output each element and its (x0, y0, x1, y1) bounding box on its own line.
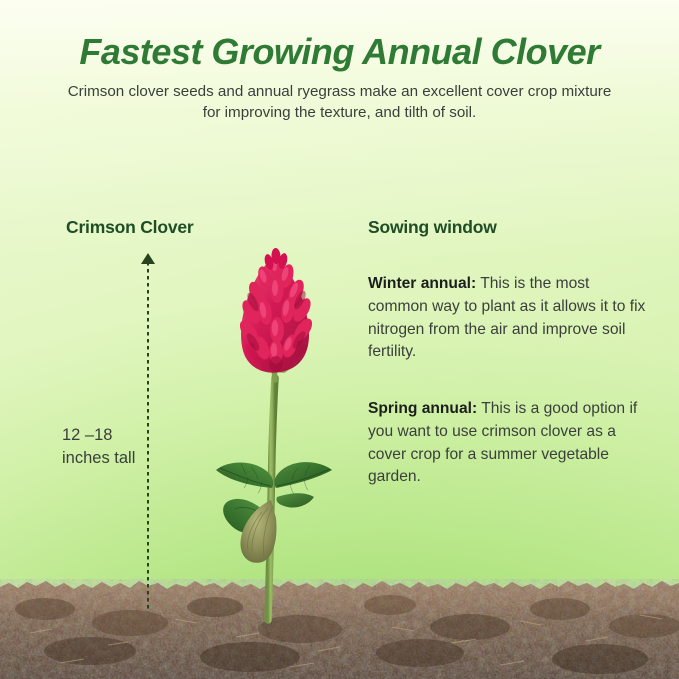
page-subtitle: Crimson clover seeds and annual ryegrass… (60, 81, 620, 124)
soil-ground (0, 571, 679, 679)
height-measurement-label: 12 –18 inches tall (62, 424, 152, 470)
right-column-heading: Sowing window (368, 217, 497, 238)
sowing-window-item-spring: Spring annual: This is a good option if … (368, 398, 652, 489)
spring-annual-term: Spring annual: (368, 400, 477, 417)
sowing-window-item-winter: Winter annual: This is the most common w… (368, 273, 652, 364)
header: Fastest Growing Annual Clover Crimson cl… (0, 0, 679, 124)
soil-icon (0, 571, 679, 679)
page-title: Fastest Growing Annual Clover (0, 0, 679, 72)
height-label-line-2: inches tall (62, 447, 152, 470)
infographic-canvas: Fastest Growing Annual Clover Crimson cl… (0, 0, 679, 679)
winter-annual-term: Winter annual: (368, 275, 476, 292)
left-column-heading: Crimson Clover (66, 217, 194, 238)
height-label-line-1: 12 –18 (62, 424, 152, 447)
